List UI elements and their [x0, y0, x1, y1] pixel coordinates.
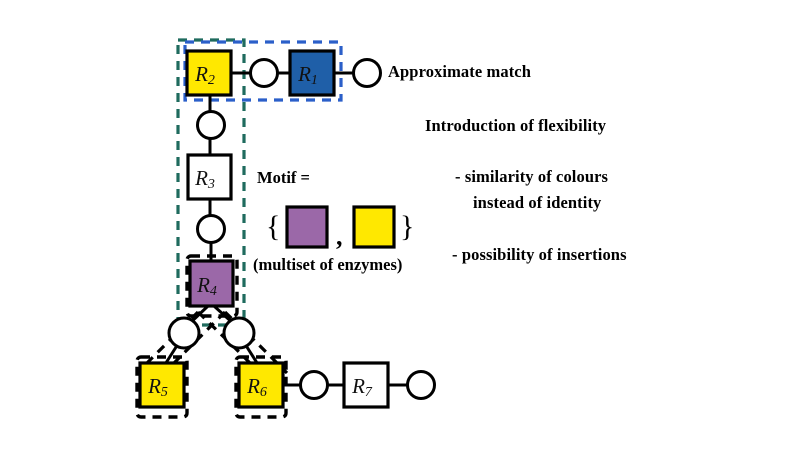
compound-node-c4	[198, 216, 225, 243]
compound-node-c6	[224, 318, 254, 348]
legend-comma: ,	[336, 222, 343, 252]
compound-node-c7	[301, 372, 328, 399]
legend-open-brace: {	[266, 210, 280, 244]
annotation-similarity-colours: - similarity of colours	[455, 167, 608, 187]
annotation-instead-identity: instead of identity	[473, 193, 601, 213]
annotation-possibility-insertions: - possibility of insertions	[452, 245, 627, 265]
annotation-introduction-flexibility: Introduction of flexibility	[425, 116, 606, 136]
diagram-canvas: R2 R1 R3 R4 R5 R6 R7	[0, 0, 785, 453]
compound-node-c3	[198, 112, 225, 139]
legend-caption: (multiset of enzymes)	[253, 255, 402, 275]
compound-node-c5	[169, 318, 199, 348]
legend-close-brace: }	[400, 210, 414, 244]
annotation-approximate-match: Approximate match	[388, 62, 531, 82]
compound-node-c8	[408, 372, 435, 399]
legend-title: Motif =	[257, 168, 310, 188]
legend-swatch-yellow	[354, 207, 394, 247]
legend-swatch-purple	[287, 207, 327, 247]
compound-node-c2	[354, 60, 381, 87]
compound-node-c1	[251, 60, 278, 87]
